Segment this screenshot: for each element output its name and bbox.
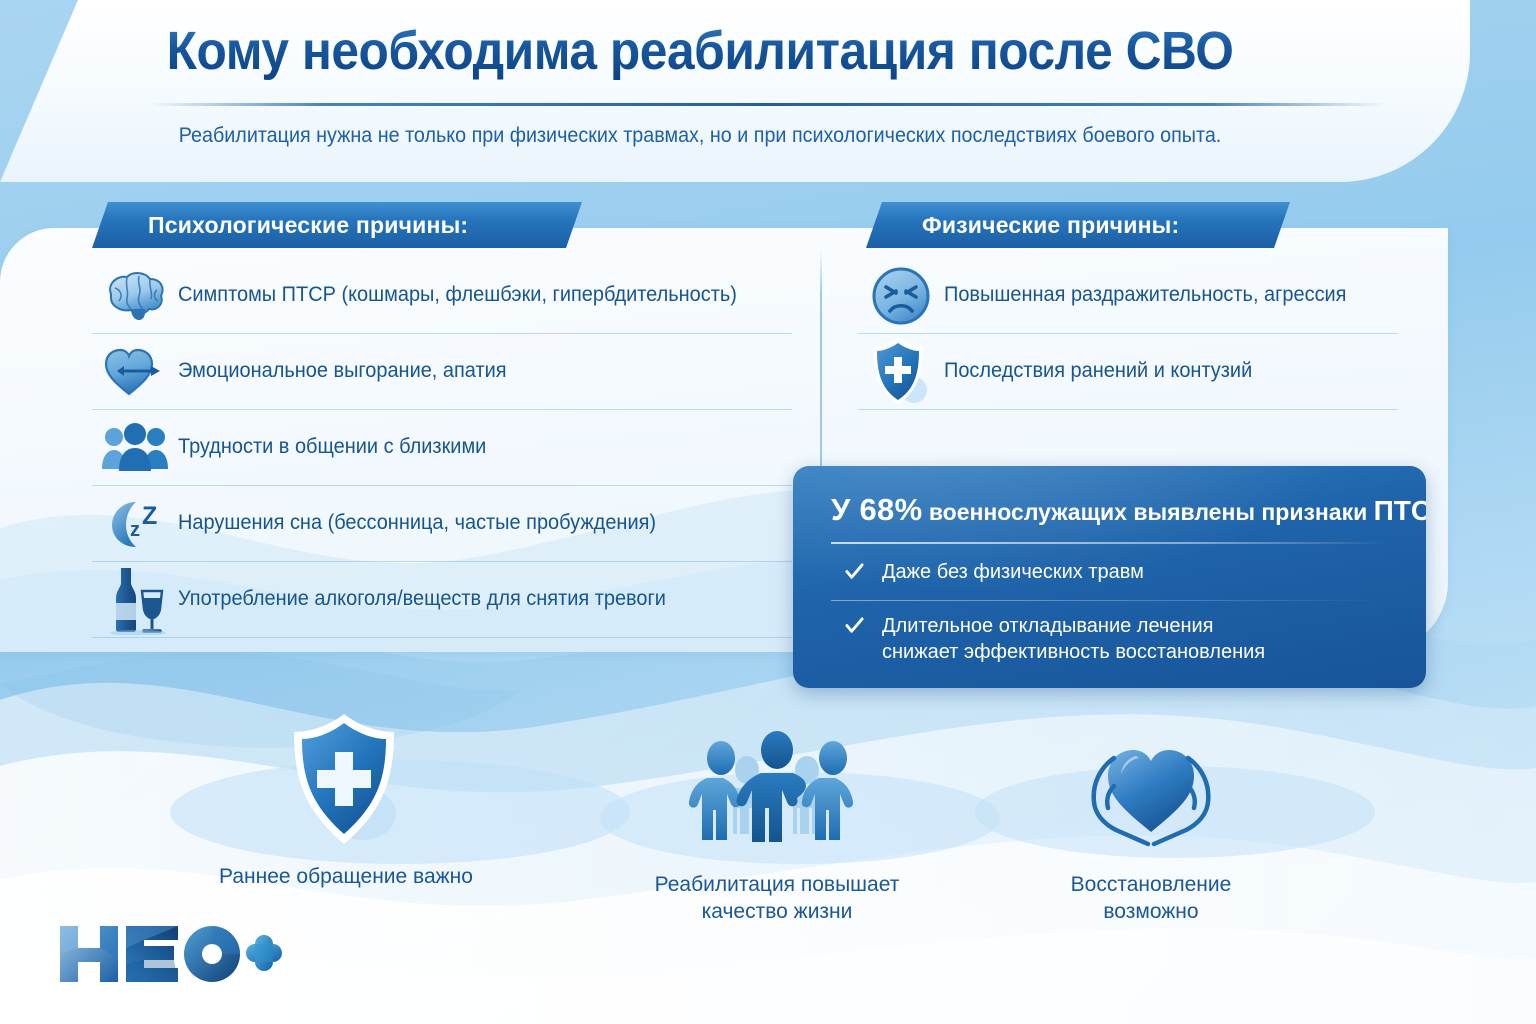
list-item-label: Употребление алкоголя/веществ для снятия… [178,587,666,611]
list-item: Последствия ранений и контузий [858,334,1398,410]
infographic-root: Кому необходима реабилитация после СВО Р… [0,0,1536,1024]
check-icon [845,563,864,582]
statistic-headline-mid: военнослужащих выявлены признаки [922,499,1373,525]
list-item-label: Симптомы ПТСР (кошмары, флешбэки, гиперб… [178,283,737,307]
benefit-caption: Восстановление возможно [1001,872,1301,926]
psychological-causes-banner: Психологические причины: [92,202,582,248]
statistic-bullet: Даже без физических травм [845,560,1144,586]
list-item-label: Трудности в общении с близкими [178,435,486,459]
statistic-bullet-divider [831,600,1387,601]
statistic-bullet: Длительное откладывание лечения снижает … [845,614,1265,665]
page-title: Кому необходима реабилитация после СВО [56,20,1344,82]
check-icon [845,617,864,636]
physical-banner-label: Физические причины: [866,212,1179,239]
statistic-headline: У 68% военнослужащих выявлены признаки П… [831,492,1401,528]
statistic-bullet-label: Даже без физических травм [882,560,1144,586]
list-item: Трудности в общении с близкими [92,410,792,486]
benefit-caption: Реабилитация повышает качество жизни [627,872,927,926]
people-support-icon [627,718,927,858]
list-item: Симптомы ПТСР (кошмары, флешбэки, гиперб… [92,258,792,334]
heart-arrow-icon [92,339,178,405]
benefit-item: Восстановление возможно [1001,718,1301,926]
svg-text:z: z [130,519,140,541]
list-item: z Z Нарушения сна (бессонница, частые пр… [92,486,792,562]
title-divider [150,103,1385,106]
people-group-icon [92,415,178,481]
statistic-bullet-label: Длительное откладывание лечения снижает … [882,614,1265,665]
statistic-divider [831,542,1387,544]
benefit-item: Реабилитация повышает качество жизни [627,718,927,926]
shield-cross-large-icon [196,710,496,850]
svg-text:Z: Z [142,502,157,530]
benefits-row: Раннее обращение важно [0,700,1536,940]
list-item-label: Нарушения сна (бессонница, частые пробуж… [178,511,656,535]
physical-causes-list: Повышенная раздражительность, агрессия П… [858,258,1398,410]
moon-sleep-icon: z Z [92,491,178,557]
header-content: Кому необходима реабилитация после СВО Р… [0,0,1470,182]
statistic-callout-box: У 68% военнослужащих выявлены признаки П… [793,466,1426,688]
bottle-glass-icon [92,567,178,633]
shield-cross-icon [858,339,944,405]
list-item: Эмоциональное выгорание, апатия [92,334,792,410]
benefit-caption: Раннее обращение важно [196,864,496,891]
statistic-percent: У 68% [831,492,922,527]
brain-icon [92,263,178,329]
physical-causes-banner: Физические причины: [866,202,1290,248]
statistic-headline-tail: ПТСР [1374,495,1426,526]
list-item: Повышенная раздражительность, агрессия [858,258,1398,334]
page-subtitle: Реабилитация нужна не только при физичес… [42,124,1358,148]
psychological-causes-list: Симптомы ПТСР (кошмары, флешбэки, гиперб… [92,258,792,638]
logo: НЕО+ [56,918,284,995]
hands-heart-icon [1001,718,1301,858]
list-item-label: Повышенная раздражительность, агрессия [944,283,1346,307]
list-item: Употребление алкоголя/веществ для снятия… [92,562,792,638]
list-item-label: Последствия ранений и контузий [944,359,1252,383]
angry-face-icon [858,263,944,329]
list-item-label: Эмоциональное выгорание, апатия [178,359,507,383]
benefit-item: Раннее обращение важно [196,710,496,891]
psychological-banner-label: Психологические причины: [92,212,468,239]
